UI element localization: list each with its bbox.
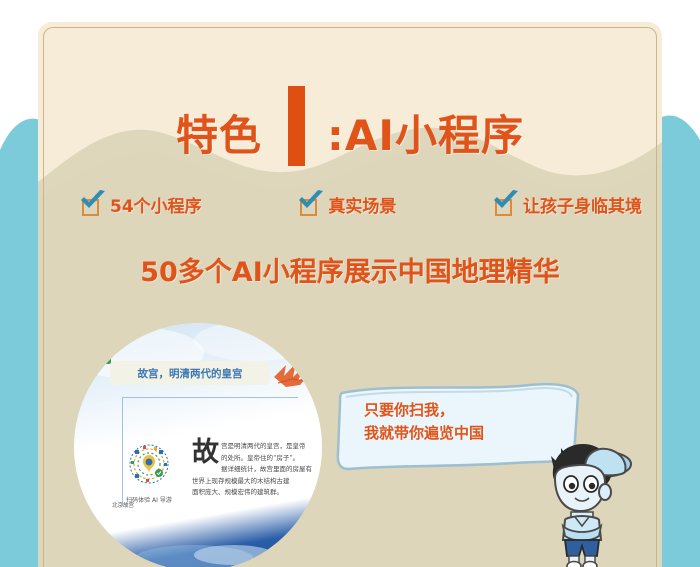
feature-item: 让孩子身临其境 [491,189,642,219]
feature-item: 真实场景 [296,189,396,219]
green-chip-decoration [102,351,111,364]
page-body-line: 世界上现存规模最大的木结构古建 [192,476,322,488]
page-title: 特色 :AI小程序 [38,96,662,176]
page-body-text: 故 宫是明清两代的皇宫，是皇帝 的处所。皇帝住的“房子”。 据详细统计，故宫里面… [192,441,322,499]
checkbox-checked-icon [491,189,521,219]
feature-list: 54个小程序 真实场景 让孩子身临其境 [60,189,660,219]
subtitle: 50多个AI小程序展示中国地理精华 [38,250,662,289]
page-body-line: 面积庞大、规模宏伟的建筑群。 [192,487,322,499]
content-card: 特色 :AI小程序 54个小程序 [38,22,662,567]
page-heading-banner: 故宫，明清两代的皇宫 [110,361,270,385]
page-body-line: 宫是明清两代的皇宫，是皇帝 [221,441,322,453]
speech-bubble-line-2: 我就带你遍览中国 [364,422,484,445]
headline-suffix: :AI小程序 [327,115,524,157]
feature-label: 让孩子身临其境 [523,192,642,217]
checkbox-checked-icon [296,189,326,219]
page-heading-text: 故宫，明清两代的皇宫 [138,366,243,381]
page-footer-text: 北京故宫 [112,501,134,509]
feature-label: 真实场景 [328,192,396,217]
feature-label: 54个小程序 [110,192,202,217]
red-brush-stroke-icon [270,359,322,393]
speech-bubble-line-1: 只要你扫我， [364,399,484,422]
roman-numeral-one-bar-icon [288,86,305,166]
cartoon-boy-mascot [535,434,645,567]
poster-root: 特色 :AI小程序 54个小程序 [0,0,700,567]
page-body-line: 的处所。皇帝住的“房子”。 [221,453,322,465]
qr-code-block: 扫码体验 AI 导游 [118,441,180,504]
speech-bubble-text: 只要你扫我， 我就带你遍览中国 [364,399,484,445]
qr-code-icon [126,441,172,487]
feature-item: 54个小程序 [78,189,202,219]
page-dropcap: 故 [192,441,219,465]
book-page-photo: 故宫，明清两代的皇宫 [74,323,322,567]
headline-prefix: 特色 [176,115,262,157]
checkbox-checked-icon [78,189,108,219]
page-body-line: 据详细统计，故宫里面的房屋有 [221,464,322,476]
